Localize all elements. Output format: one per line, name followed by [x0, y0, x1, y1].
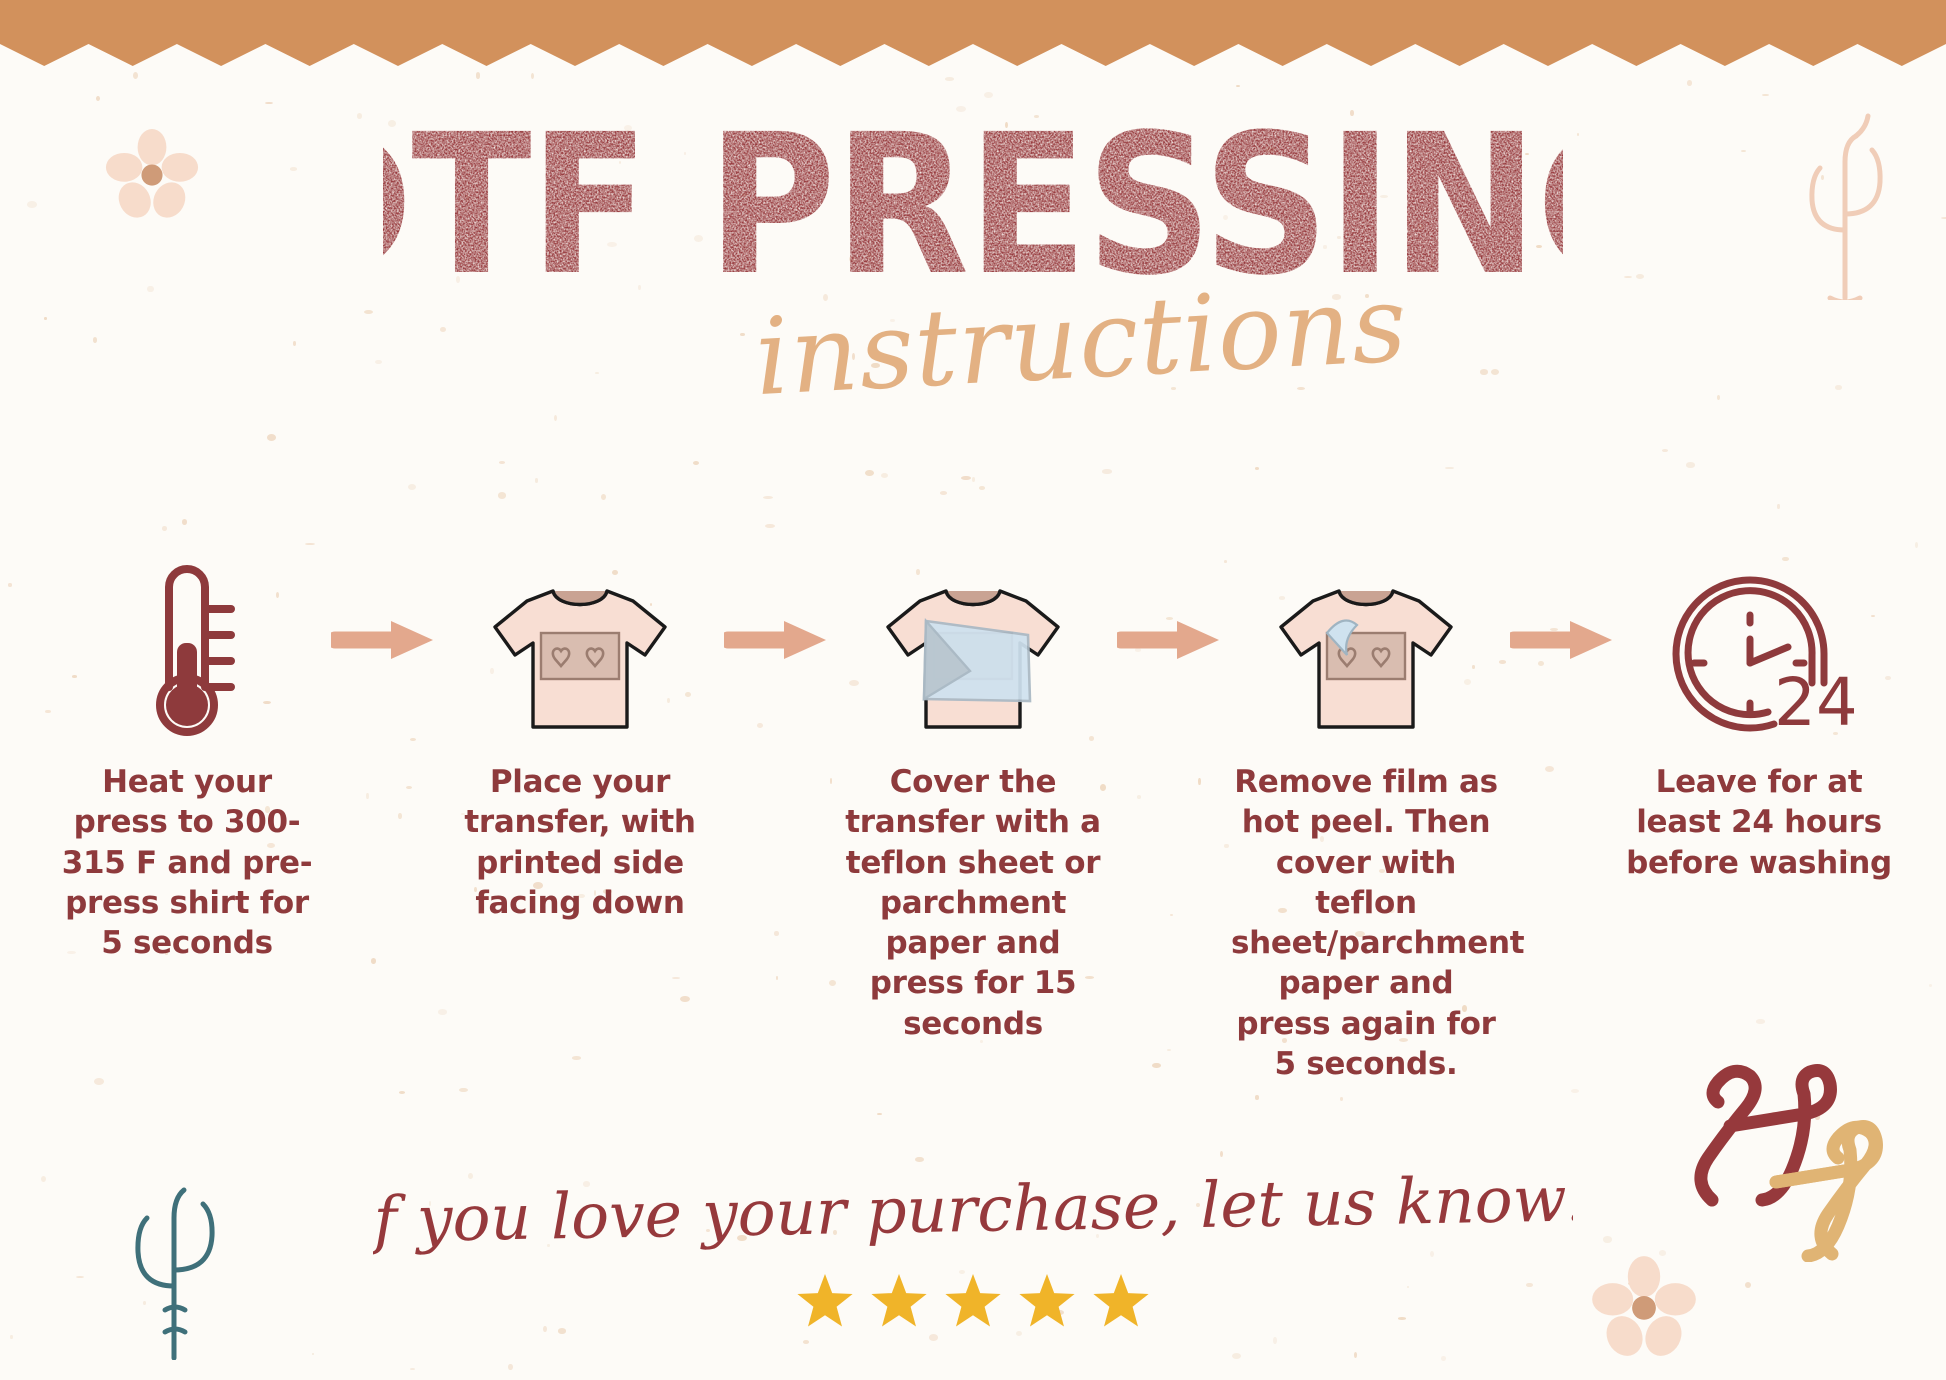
step-1: Heat your press to 300-315 F and pre-pre…	[48, 540, 326, 963]
page-subtitle: instructions	[523, 273, 1423, 413]
step-2: Place your transfer, with printed side f…	[441, 540, 719, 923]
next-step-arrow-4	[1505, 540, 1620, 740]
steps-row: Heat your press to 300-315 F and pre-pre…	[0, 540, 1946, 1100]
star-icon	[794, 1272, 856, 1334]
step-5-icon-wrap: 24	[1620, 540, 1898, 740]
tshirt-teflon-sheet-icon	[878, 575, 1068, 740]
star-icon	[1016, 1272, 1078, 1334]
arrow-right-icon	[724, 618, 830, 662]
star-icon	[868, 1272, 930, 1334]
svg-text:if you love your purchase, let: if you love your purchase, let us know!	[373, 1162, 1573, 1257]
step-3-icon-wrap	[834, 540, 1112, 740]
tshirt-transfer-icon	[485, 575, 675, 740]
step-3-text: Cover the transfer with a teflon sheet o…	[838, 762, 1108, 1044]
step-4: Remove film as hot peel. Then cover with…	[1227, 540, 1505, 1084]
clock-badge-number: 24	[1774, 664, 1854, 740]
tshirt-peel-film-icon	[1271, 575, 1461, 740]
step-5: 24 Leave for at least 24 hours before wa…	[1620, 540, 1898, 883]
step-4-text: Remove film as hot peel. Then cover with…	[1231, 762, 1501, 1084]
title-block: DTF PRESSING instructions	[0, 96, 1946, 413]
next-step-arrow-1	[326, 540, 441, 740]
step-2-text: Place your transfer, with printed side f…	[445, 762, 715, 923]
star-rating	[0, 1272, 1946, 1334]
arrow-right-icon	[331, 618, 437, 662]
svg-text:instructions: instructions	[752, 273, 1410, 413]
next-step-arrow-2	[719, 540, 834, 740]
next-step-arrow-3	[1112, 540, 1227, 740]
step-3: Cover the transfer with a teflon sheet o…	[834, 540, 1112, 1044]
arrow-right-icon	[1510, 618, 1616, 662]
footer-script: if you love your purchase, let us know!	[373, 1155, 1573, 1265]
svg-text:DTF PRESSING: DTF PRESSING	[383, 96, 1563, 291]
thermometer-icon	[127, 555, 247, 740]
step-5-text: Leave for at least 24 hours before washi…	[1624, 762, 1894, 883]
star-icon	[1090, 1272, 1152, 1334]
arrow-right-icon	[1117, 618, 1223, 662]
step-1-icon-wrap	[48, 540, 326, 740]
hh-monogram-logo	[1672, 1042, 1922, 1262]
page-title: DTF PRESSING	[383, 96, 1563, 291]
step-1-text: Heat your press to 300-315 F and pre-pre…	[52, 762, 322, 963]
step-4-icon-wrap	[1227, 540, 1505, 740]
clock-24-icon: 24	[1664, 565, 1854, 740]
footer-script-wrap: if you love your purchase, let us know!	[0, 1155, 1946, 1270]
top-zigzag-band	[0, 0, 1946, 66]
star-icon	[942, 1272, 1004, 1334]
step-2-icon-wrap	[441, 540, 719, 740]
poster-canvas: DTF PRESSING instructions	[0, 0, 1946, 1380]
